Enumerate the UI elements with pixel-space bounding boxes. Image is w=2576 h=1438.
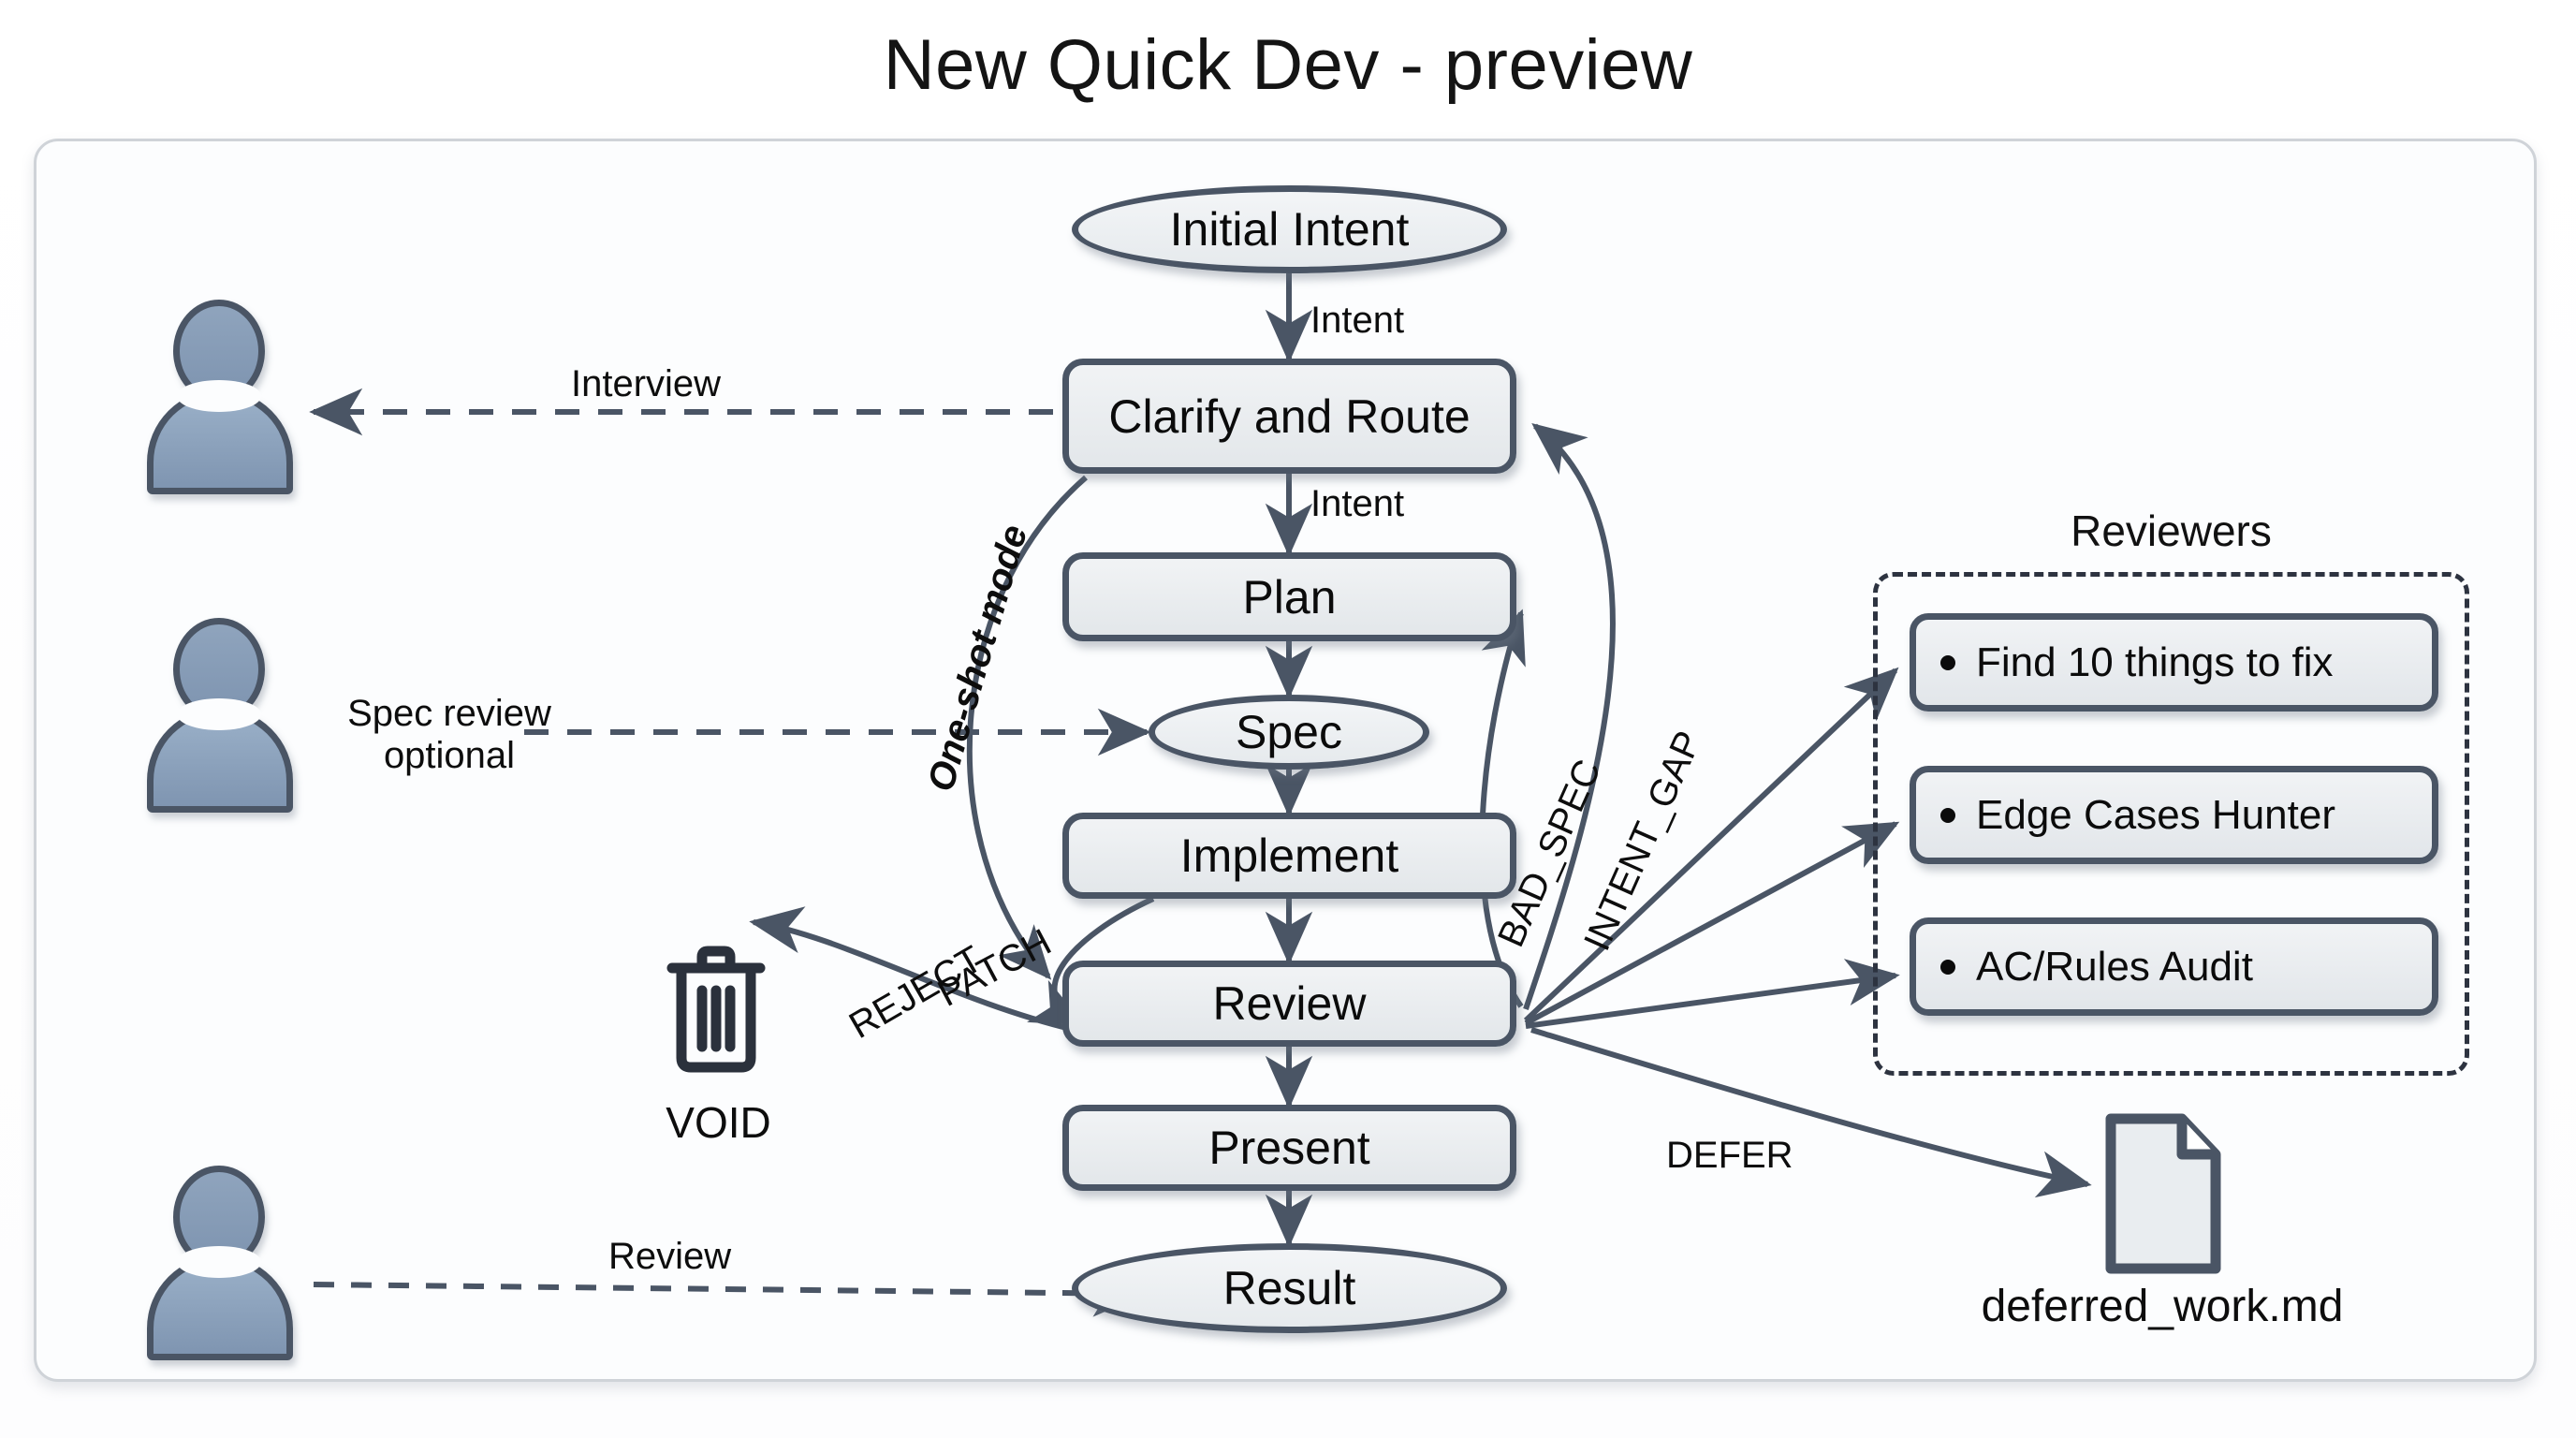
node-review[interactable]: Review bbox=[1062, 961, 1516, 1047]
document-icon bbox=[2101, 1109, 2225, 1278]
edge-label-spec-review: Spec review optional bbox=[300, 693, 599, 777]
node-label: Result bbox=[1223, 1261, 1356, 1315]
reviewer-find-10-things-to-fix[interactable]: Find 10 things to fix bbox=[1910, 613, 2438, 712]
node-label: Plan bbox=[1242, 570, 1336, 624]
edge-label-spec-review-line2: optional bbox=[300, 735, 599, 777]
edge-label-review: Review bbox=[608, 1236, 731, 1278]
person-neck-notch bbox=[177, 1246, 261, 1278]
actor-interview[interactable] bbox=[145, 300, 295, 468]
bullet-icon bbox=[1940, 808, 1955, 823]
node-label: Present bbox=[1208, 1121, 1369, 1175]
reviewer-label: AC/Rules Audit bbox=[1976, 944, 2253, 990]
node-label: Review bbox=[1213, 976, 1367, 1031]
person-neck-notch bbox=[177, 698, 261, 730]
reviewer-ac-rules-audit[interactable]: AC/Rules Audit bbox=[1910, 917, 2438, 1016]
edge-label-intent-top: Intent bbox=[1310, 300, 1404, 342]
reviewer-edge-cases-hunter[interactable]: Edge Cases Hunter bbox=[1910, 766, 2438, 864]
node-present[interactable]: Present bbox=[1062, 1105, 1516, 1191]
node-initial-intent[interactable]: Initial Intent bbox=[1072, 185, 1507, 273]
edge-label-defer: DEFER bbox=[1666, 1135, 1793, 1177]
reviewers-cluster-label: Reviewers bbox=[1873, 506, 2469, 556]
node-label: Initial Intent bbox=[1170, 202, 1410, 257]
node-implement[interactable]: Implement bbox=[1062, 813, 1516, 899]
bullet-icon bbox=[1940, 655, 1955, 670]
void-label: VOID bbox=[618, 1097, 819, 1148]
deferred-work-label: deferred_work.md bbox=[1910, 1281, 2415, 1332]
actor-spec-review[interactable] bbox=[145, 618, 295, 786]
person-neck-notch bbox=[177, 380, 261, 412]
edge-label-intent-mid: Intent bbox=[1310, 483, 1404, 525]
edge-label-spec-review-line1: Spec review bbox=[300, 693, 599, 735]
node-label: Clarify and Route bbox=[1108, 389, 1470, 444]
diagram-canvas: New Quick Dev - preview bbox=[0, 0, 2576, 1438]
node-clarify-and-route[interactable]: Clarify and Route bbox=[1062, 359, 1516, 474]
bullet-icon bbox=[1940, 960, 1955, 975]
node-plan[interactable]: Plan bbox=[1062, 552, 1516, 641]
node-label: Implement bbox=[1180, 829, 1398, 883]
reviewer-label: Find 10 things to fix bbox=[1976, 639, 2334, 686]
reviewer-label: Edge Cases Hunter bbox=[1976, 792, 2335, 839]
actor-review[interactable] bbox=[145, 1166, 295, 1334]
trash-icon bbox=[655, 936, 777, 1077]
page-title: New Quick Dev - preview bbox=[0, 26, 2576, 105]
edge-label-interview: Interview bbox=[571, 363, 721, 405]
node-label: Spec bbox=[1236, 705, 1342, 759]
node-result[interactable]: Result bbox=[1072, 1243, 1507, 1333]
node-spec[interactable]: Spec bbox=[1149, 695, 1429, 770]
